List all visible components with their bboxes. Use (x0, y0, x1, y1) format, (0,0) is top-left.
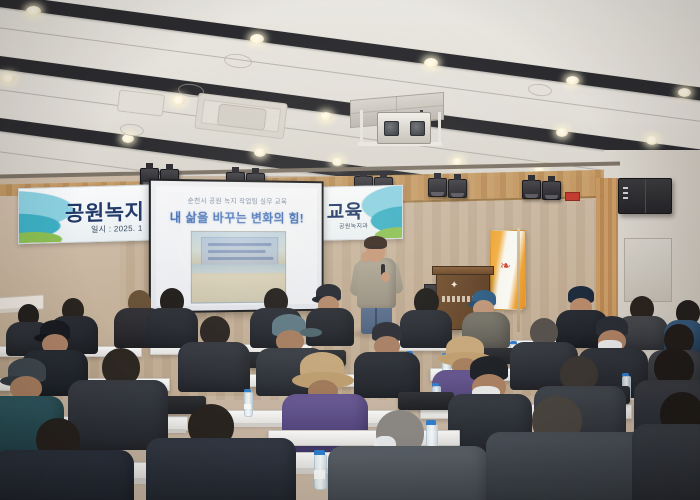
body (632, 424, 700, 500)
window-curtain (596, 178, 618, 328)
presenter-torso (357, 258, 396, 308)
cap-brim (300, 328, 322, 337)
downlight (424, 58, 438, 68)
banner-left-subtitle: 일시 : 2025. 1 (91, 223, 143, 235)
downlight (2, 74, 15, 83)
wall-speaker-icon (618, 178, 672, 214)
downlight-ring (527, 83, 552, 98)
banner-right-subtitle: 공원녹지과 (339, 221, 368, 231)
body (486, 432, 646, 500)
downlight (320, 112, 332, 121)
speaker-led (623, 192, 628, 194)
podium-emblem-icon: ✦ (450, 280, 459, 291)
caption-line (208, 243, 271, 246)
ac-vent-inner (217, 104, 267, 131)
slide-caption-box (201, 237, 278, 265)
body (178, 342, 250, 392)
slide-title-text: 내 삶을 바꾸는 변화의 힘! (156, 208, 317, 226)
body (328, 446, 488, 500)
bottle-cap (314, 450, 325, 455)
downlight-ring (223, 52, 252, 69)
downlight (332, 158, 343, 166)
slide-eyebrow-text: 순천시 공원 녹지 작업팀 실무 교육 (156, 194, 317, 206)
caption-line (208, 257, 273, 260)
caption-line (208, 250, 266, 253)
body (306, 308, 354, 346)
presenter-left-hand (361, 252, 370, 262)
stage-spotlight (448, 179, 467, 198)
ceiling-access-panel (117, 89, 165, 116)
body (400, 310, 452, 348)
bottle-cap (622, 373, 629, 376)
bottle-label (244, 404, 251, 409)
side-door[interactable] (624, 238, 672, 302)
projector-lens (410, 121, 425, 136)
bottle-cap (426, 420, 436, 425)
stage-spotlight (522, 180, 541, 199)
stage-spotlight (428, 178, 447, 197)
projector-lift-arm (438, 112, 441, 145)
presenter-right-hand (381, 272, 390, 282)
bottle-cap (244, 389, 251, 392)
speaker-led (623, 197, 628, 199)
stage-spotlight (542, 181, 561, 200)
downlight (172, 96, 185, 105)
projector-lift-arm (360, 110, 363, 145)
speaker-led (623, 187, 628, 189)
downlight (566, 76, 579, 85)
chair-back (398, 392, 454, 410)
downlight (250, 34, 264, 44)
body (146, 438, 296, 500)
downlight (254, 148, 266, 157)
projector-lens (384, 121, 399, 136)
downlight (26, 6, 41, 16)
exit-sign-icon (565, 192, 580, 201)
downlight (678, 88, 691, 97)
flag-emblem-icon: ❧ (500, 258, 513, 273)
downlight (646, 136, 658, 145)
flag-pole (517, 228, 520, 332)
body (0, 450, 134, 500)
ceiling-projector-icon (377, 112, 431, 144)
lecture-hall-photo: 공원녹지 일시 : 2025. 1 드 교육 공원녹지과 순천시 공원 녹지 작… (0, 0, 700, 500)
downlight (556, 128, 568, 137)
podium-top-surface (432, 266, 494, 275)
presentation-slide: 순천시 공원 녹지 작업팀 실무 교육 내 삶을 바꾸는 변화의 힘! (156, 186, 317, 306)
ceiling-stripe (0, 0, 700, 106)
bottle-label (314, 470, 325, 479)
glasses-icon (367, 247, 384, 252)
bottle-cap (432, 383, 439, 386)
